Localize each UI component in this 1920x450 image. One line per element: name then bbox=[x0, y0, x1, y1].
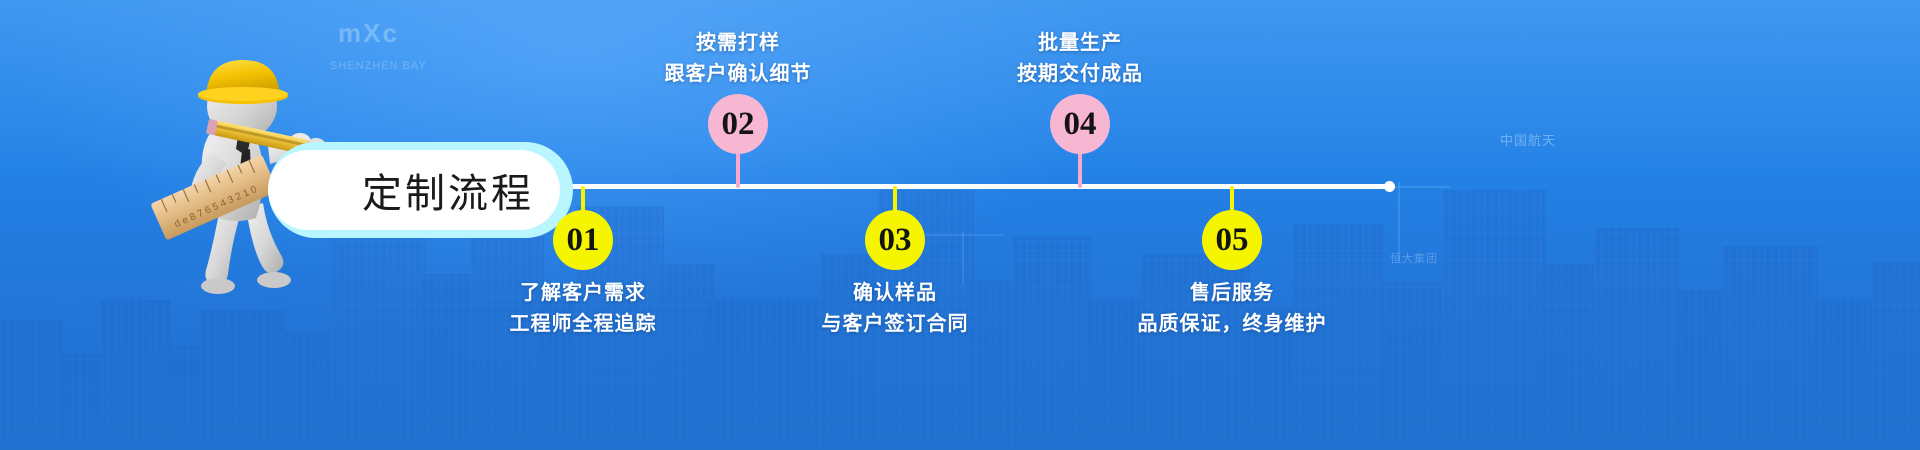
step-number-04: 04 bbox=[1064, 108, 1097, 141]
step-caption-04-line2: 按期交付成品 bbox=[880, 59, 1280, 90]
building-mark-mxc: mXc bbox=[338, 18, 399, 49]
step-caption-02-line2: 跟客户确认细节 bbox=[538, 59, 938, 90]
step-number-01: 01 bbox=[567, 224, 600, 257]
step-caption-02-line1: 按需打样 bbox=[538, 28, 938, 59]
step-caption-04: 批量生产 按期交付成品 bbox=[880, 28, 1280, 90]
page-title: 定制流程 bbox=[362, 161, 560, 219]
banner-root: mXc SHENZHEN BAY 中国航天 恒大集团 bbox=[0, 0, 1920, 450]
step-number-05: 05 bbox=[1216, 224, 1249, 257]
step-caption-05-line1: 售后服务 bbox=[1032, 278, 1432, 309]
step-caption-05-line2: 品质保证，终身维护 bbox=[1032, 309, 1432, 340]
step-bubble-02[interactable]: 02 bbox=[708, 94, 768, 154]
building-mark-evergrande: 恒大集团 bbox=[1390, 250, 1438, 266]
step-bubble-04[interactable]: 04 bbox=[1050, 94, 1110, 154]
step-number-03: 03 bbox=[879, 224, 912, 257]
step-caption-04-line1: 批量生产 bbox=[880, 28, 1280, 59]
step-caption-05: 售后服务 品质保证，终身维护 bbox=[1032, 278, 1432, 340]
timeline-axis bbox=[468, 184, 1392, 189]
title-pill-inner: 定制流程 bbox=[268, 150, 560, 230]
step-caption-02: 按需打样 跟客户确认细节 bbox=[538, 28, 938, 90]
step-number-02: 02 bbox=[722, 108, 755, 141]
timeline-end-dot bbox=[1384, 181, 1395, 192]
building-mark-shenzhen-bay: SHENZHEN BAY bbox=[330, 60, 427, 72]
step-bubble-05[interactable]: 05 bbox=[1202, 210, 1262, 270]
step-bubble-01[interactable]: 01 bbox=[553, 210, 613, 270]
step-bubble-03[interactable]: 03 bbox=[865, 210, 925, 270]
building-mark-casc: 中国航天 bbox=[1500, 130, 1556, 149]
